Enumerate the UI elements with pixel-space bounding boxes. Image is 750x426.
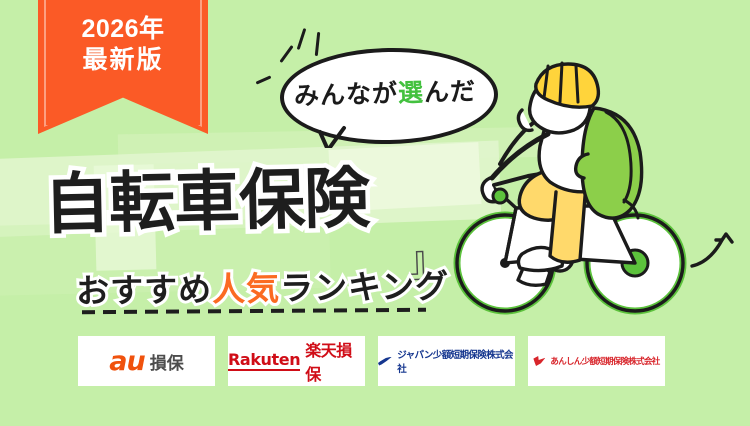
- japan-logo-text: ジャパン少額短期保険株式会社: [397, 347, 515, 375]
- au-logo-mark: au: [109, 348, 144, 375]
- ribbon-year: 2026年: [38, 14, 208, 45]
- subtitle: おすすめ人気ランキング: [76, 259, 450, 312]
- subtitle-part2: ランキング: [280, 267, 450, 306]
- logo-box-anshin-shougaku[interactable]: あんしん少額短期保険株式会社: [528, 336, 665, 386]
- cyclist-illustration: [438, 58, 750, 326]
- bubble-text-highlight: 選: [398, 73, 425, 110]
- rakuten-logo-japanese: 楽天損保: [305, 337, 365, 385]
- logo-box-au[interactable]: au 損保: [78, 336, 215, 386]
- logo-strip: au 損保 Rakuten 楽天損保 ジャパン少額短期保険株式会社 あんしん少額…: [78, 336, 665, 386]
- page-title: 自転車保険: [44, 168, 369, 234]
- banner-root: 2026年 最新版 みんなが選んだ 『 自転車保険 』 おすすめ人気ランキング …: [0, 0, 750, 426]
- anshin-logo-text: あんしん少額短期保険株式会社: [550, 355, 659, 367]
- ribbon-label: 2026年 最新版: [38, 14, 208, 75]
- logo-box-japan-shougaku[interactable]: ジャパン少額短期保険株式会社: [378, 336, 515, 386]
- subtitle-highlight: 人気: [212, 270, 281, 308]
- au-logo-suffix: 損保: [150, 349, 184, 374]
- rakuten-logo-latin: Rakuten: [228, 351, 300, 372]
- title-text: 自転車保険: [43, 165, 369, 238]
- ribbon-edition: 最新版: [38, 45, 208, 76]
- motion-swoosh-icon: [688, 228, 744, 276]
- logo-box-rakuten[interactable]: Rakuten 楽天損保: [228, 336, 365, 386]
- swoosh-icon: [378, 357, 392, 366]
- spark-icon: [533, 356, 545, 366]
- bubble-text-before: みんなが: [294, 74, 399, 113]
- subtitle-part1: おすすめ: [76, 271, 213, 310]
